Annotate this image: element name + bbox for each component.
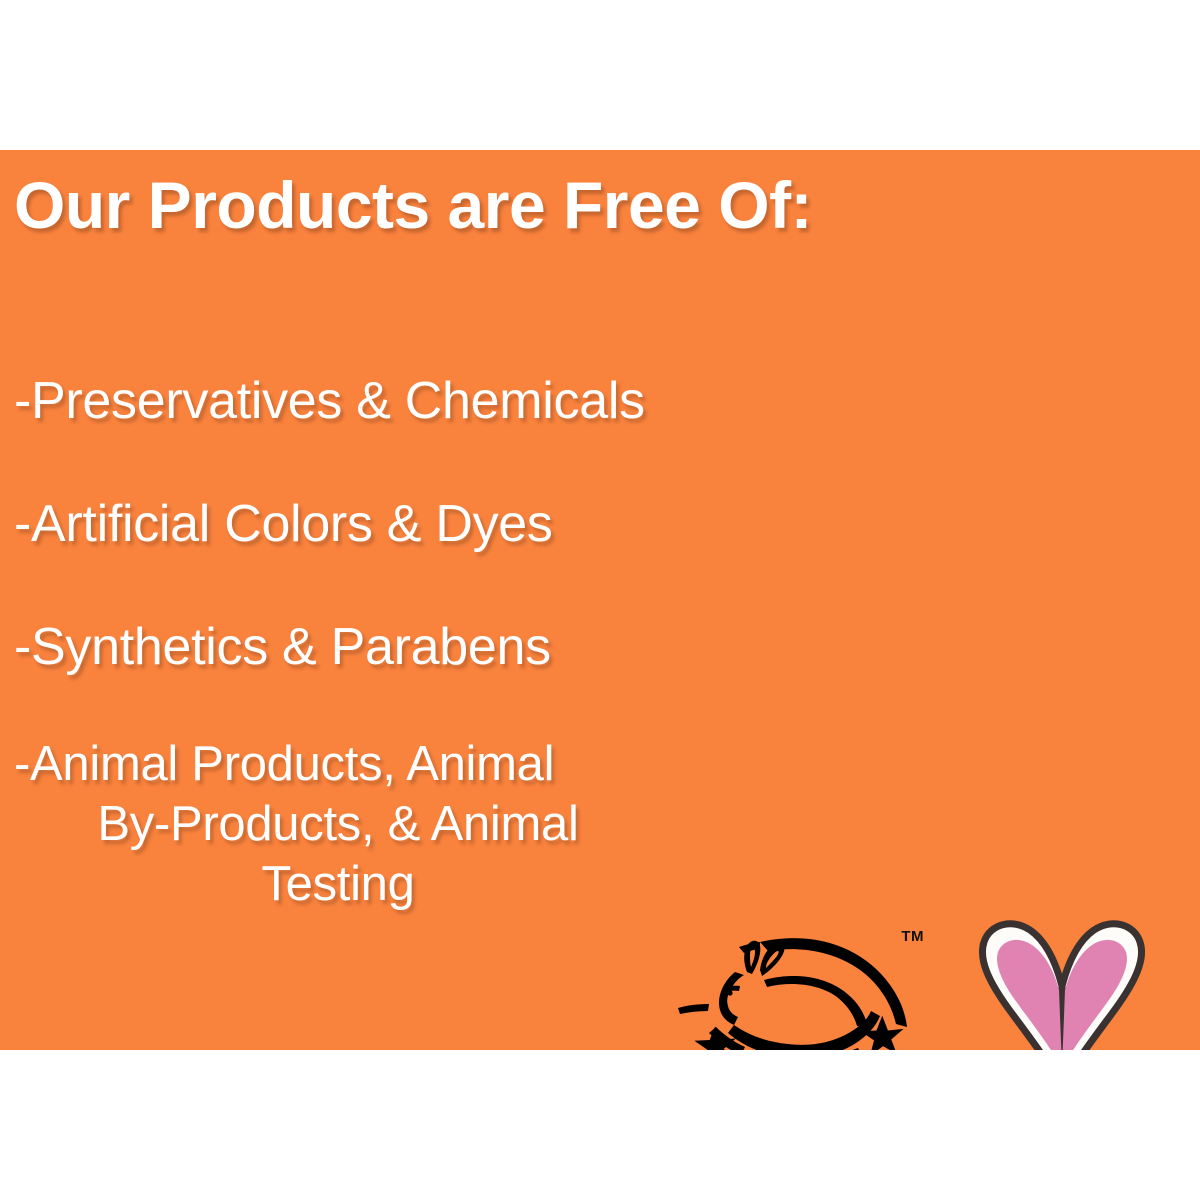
cruelty-free-international-logo: TM Cruelty Free INTERNATIONAL [672,920,922,1050]
bullet-line-1: -Animal Products, Animal [8,735,668,795]
bullet-item-artificial-colors: -Artificial Colors & Dyes [14,495,553,554]
page-title: Our Products are Free Of: [14,172,1114,238]
bunny-heart-ears-icon [928,908,1196,1050]
bullet-item-preservatives: -Preservatives & Chemicals [14,372,645,431]
cruelty-free-bunny-logo: crueltyfree [928,908,1196,1050]
bullet-line-3: Testing [8,855,668,915]
bullet-item-synthetics: -Synthetics & Parabens [14,618,551,677]
poster-root: Our Products are Free Of: -Preservatives… [0,0,1200,1200]
bullet-item-animal-products: -Animal Products, Animal By-Products, & … [8,735,668,914]
leaping-bunny-icon [672,920,922,1050]
bullet-line-2: By-Products, & Animal [8,795,668,855]
trademark-symbol: TM [901,928,924,945]
orange-content-panel: Our Products are Free Of: -Preservatives… [0,150,1200,1050]
